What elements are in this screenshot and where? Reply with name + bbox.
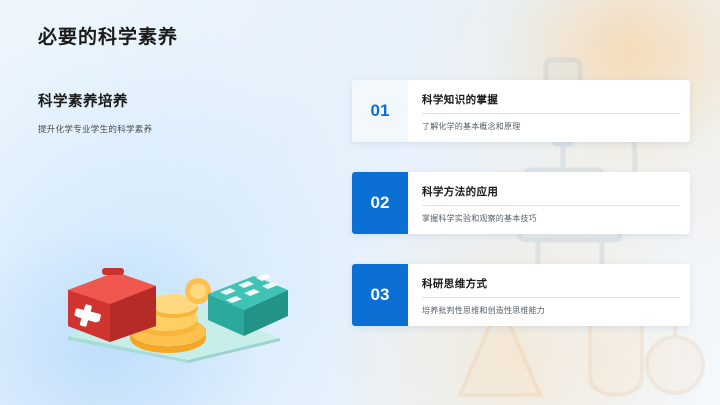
card-description: 培养批判性思维和创造性思维能力 <box>422 305 680 316</box>
glow-bottom-left <box>0 225 260 405</box>
card-list: 01 科学知识的掌握 了解化学的基本概念和原理 02 科学方法的应用 掌握科学实… <box>352 80 690 326</box>
calculator-icon <box>208 274 288 336</box>
card-divider <box>422 113 680 114</box>
card-heading: 科研思维方式 <box>422 276 680 291</box>
first-aid-kit-icon <box>48 228 298 363</box>
card-divider <box>422 205 680 206</box>
card-description: 掌握科学实验和观察的基本技巧 <box>422 213 680 224</box>
card-body: 科学知识的掌握 了解化学的基本概念和原理 <box>408 80 690 142</box>
card-number: 02 <box>352 172 408 234</box>
card-description: 了解化学的基本概念和原理 <box>422 121 680 132</box>
card-heading: 科学知识的掌握 <box>422 92 680 107</box>
card-body: 科研思维方式 培养批判性思维和创造性思维能力 <box>408 264 690 326</box>
card-item[interactable]: 02 科学方法的应用 掌握科学实验和观察的基本技巧 <box>352 172 690 234</box>
card-body: 科学方法的应用 掌握科学实验和观察的基本技巧 <box>408 172 690 234</box>
slide: 必要的科学素养 科学素养培养 提升化学专业学生的科学素养 01 科学知识的掌握 … <box>0 0 720 405</box>
left-text-block: 科学素养培养 提升化学专业学生的科学素养 <box>38 90 298 135</box>
page-title: 必要的科学素养 <box>38 22 178 49</box>
card-heading: 科学方法的应用 <box>422 184 680 199</box>
card-divider <box>422 297 680 298</box>
section-subtitle: 科学素养培养 <box>38 90 298 111</box>
card-item[interactable]: 01 科学知识的掌握 了解化学的基本概念和原理 <box>352 80 690 142</box>
card-number: 01 <box>352 80 408 142</box>
card-item[interactable]: 03 科研思维方式 培养批判性思维和创造性思维能力 <box>352 264 690 326</box>
section-description: 提升化学专业学生的科学素养 <box>38 123 298 135</box>
coins-icon <box>130 278 211 353</box>
card-number: 03 <box>352 264 408 326</box>
